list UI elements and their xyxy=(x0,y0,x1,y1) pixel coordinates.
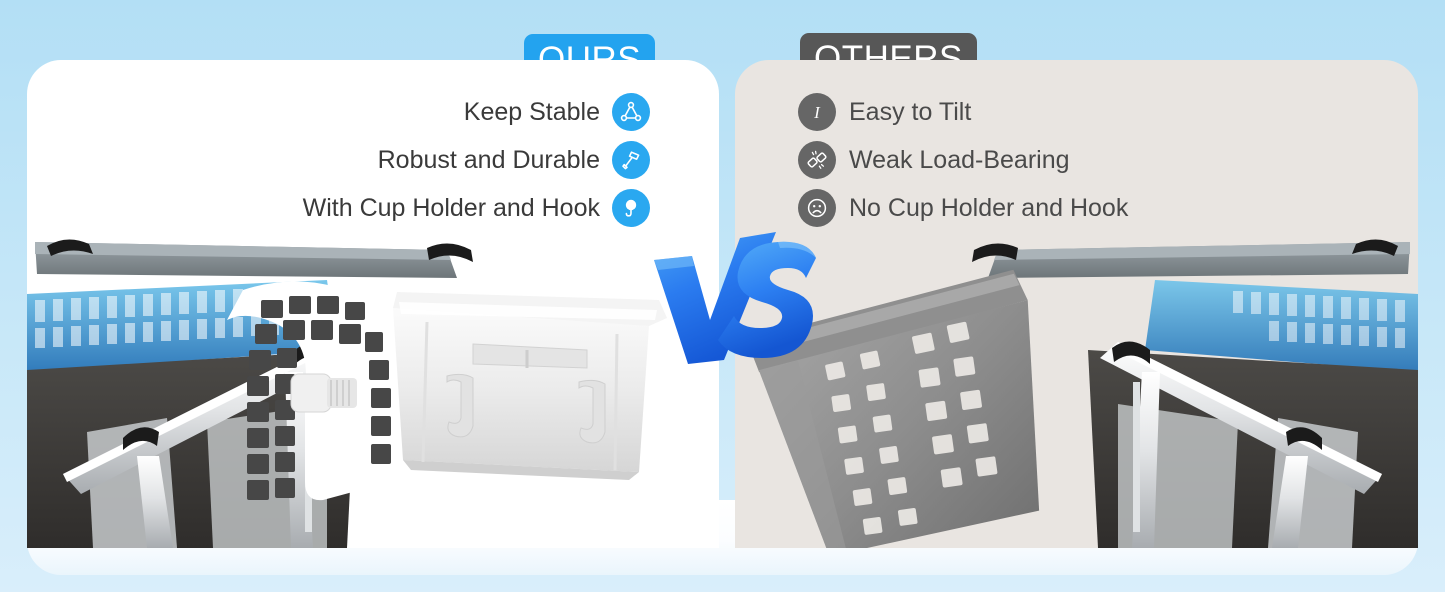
feature-item-no-cup-holder-hook: No Cup Holder and Hook xyxy=(798,184,1218,232)
feature-item-cup-holder-hook: With Cup Holder and Hook xyxy=(230,184,650,232)
feature-item-keep-stable: Keep Stable xyxy=(230,88,650,136)
photo-others xyxy=(735,222,1418,548)
feature-item-robust-durable: Robust and Durable xyxy=(230,136,650,184)
hook-icon xyxy=(612,189,650,227)
feature-item-weak-load-bearing: Weak Load-Bearing xyxy=(798,136,1218,184)
feature-label: Easy to Tilt xyxy=(849,98,971,127)
tilted-i-icon: I xyxy=(798,93,836,131)
features-list-ours: Keep Stable Robust and Durable With Cup … xyxy=(230,88,650,232)
feature-label: Robust and Durable xyxy=(378,146,600,175)
broken-link-icon xyxy=(798,141,836,179)
sad-face-icon xyxy=(798,189,836,227)
features-list-others: I Easy to Tilt Weak Load-Bearing No Cup … xyxy=(798,88,1218,232)
feature-label: With Cup Holder and Hook xyxy=(303,194,600,223)
badge-row: OURS OTHERS xyxy=(0,0,1445,60)
feature-label: Keep Stable xyxy=(464,98,600,127)
triangle-stability-icon xyxy=(612,93,650,131)
svg-text:I: I xyxy=(813,103,821,122)
feature-item-easy-to-tilt: I Easy to Tilt xyxy=(798,88,1218,136)
feature-label: No Cup Holder and Hook xyxy=(849,194,1128,223)
photo-ours xyxy=(27,222,719,548)
hammer-icon xyxy=(612,141,650,179)
feature-label: Weak Load-Bearing xyxy=(849,146,1070,175)
